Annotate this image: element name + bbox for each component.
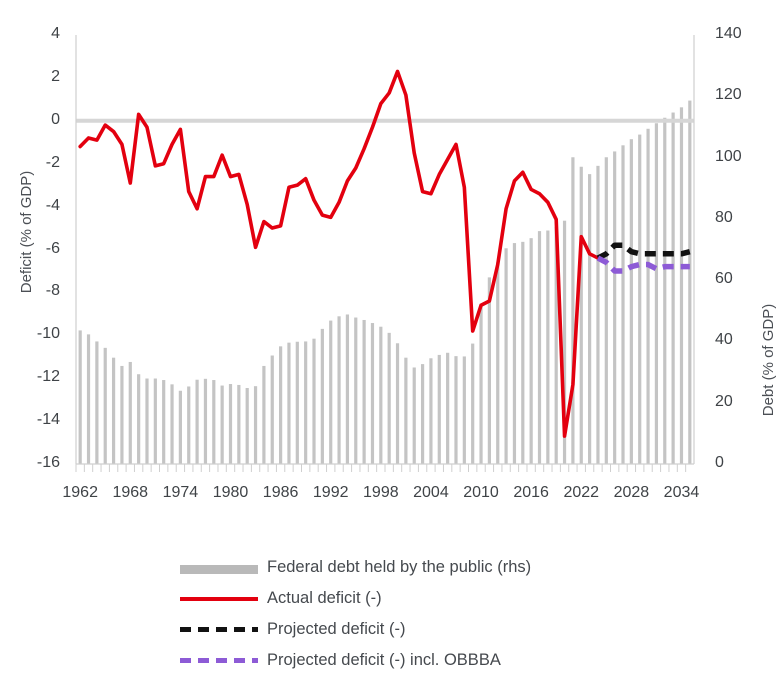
- debt-bar: [638, 135, 641, 464]
- debt-bar: [129, 362, 132, 464]
- legend-key-mark: [180, 627, 258, 632]
- debt-bar: [262, 366, 265, 464]
- debt-bar: [104, 348, 107, 464]
- legend-label: Actual deficit (-): [267, 589, 382, 608]
- debt-bar: [546, 231, 549, 465]
- debt-bar: [580, 167, 583, 464]
- debt-bar: [237, 385, 240, 464]
- debt-bar: [413, 367, 416, 464]
- debt-bar: [371, 323, 374, 464]
- debt-bar: [596, 166, 599, 464]
- projected-deficit-line: [598, 245, 690, 258]
- legend-item-1[interactable]: Actual deficit (-): [180, 583, 700, 614]
- legend-item-2[interactable]: Projected deficit (-): [180, 614, 700, 645]
- legend-item-0[interactable]: Federal debt held by the public (rhs): [180, 552, 700, 583]
- projected-deficit-obbba-line: [598, 258, 690, 271]
- debt-bar: [538, 231, 541, 464]
- debt-bar: [588, 174, 591, 464]
- debt-bar: [195, 380, 198, 464]
- legend-label: Federal debt held by the public (rhs): [267, 558, 531, 577]
- debt-bar: [287, 343, 290, 464]
- x-tick-marks: [76, 464, 686, 472]
- debt-bar: [354, 318, 357, 464]
- debt-bar: [212, 380, 215, 464]
- debt-bar: [479, 304, 482, 464]
- debt-bar: [296, 342, 299, 464]
- debt-bar: [630, 139, 633, 464]
- legend-key-mark: [180, 565, 258, 574]
- debt-bar: [571, 157, 574, 464]
- debt-bar: [421, 364, 424, 464]
- debt-bar: [154, 379, 157, 464]
- debt-bar: [621, 145, 624, 464]
- legend-item-3[interactable]: Projected deficit (-) incl. OBBBA: [180, 645, 700, 676]
- debt-bar: [346, 314, 349, 464]
- debt-bar: [613, 151, 616, 464]
- debt-bar: [304, 341, 307, 464]
- chart-container: Deficit (% of GDP) Debt (% of GDP) 420-2…: [0, 0, 780, 685]
- debt-bar: [446, 353, 449, 464]
- debt-bar: [279, 346, 282, 464]
- debt-bar: [404, 358, 407, 464]
- debt-bar: [471, 344, 474, 464]
- debt-bar: [162, 380, 165, 464]
- debt-bar: [655, 123, 658, 464]
- debt-bar: [388, 333, 391, 464]
- debt-bar: [145, 379, 148, 464]
- debt-bar: [463, 356, 466, 464]
- debt-bar: [513, 243, 516, 464]
- debt-bar: [187, 386, 190, 464]
- debt-bar: [246, 388, 249, 464]
- debt-bar: [605, 157, 608, 464]
- debt-bar: [454, 356, 457, 464]
- debt-bar: [120, 366, 123, 464]
- legend-swatch-icon: [180, 561, 258, 575]
- legend-swatch-icon: [180, 654, 258, 668]
- debt-bar: [337, 316, 340, 464]
- legend-key-mark: [180, 658, 258, 663]
- debt-bars: [79, 101, 692, 464]
- debt-bar: [530, 238, 533, 464]
- debt-bar: [229, 384, 232, 464]
- debt-bar: [271, 356, 274, 464]
- debt-bar: [363, 320, 366, 464]
- debt-bar: [329, 321, 332, 464]
- debt-bar: [95, 341, 98, 464]
- debt-bar: [112, 358, 115, 464]
- legend-key-mark: [180, 597, 258, 601]
- debt-bar: [504, 248, 507, 464]
- debt-bar: [312, 339, 315, 464]
- debt-bar: [137, 374, 140, 464]
- debt-bar: [680, 107, 683, 464]
- debt-bar: [221, 386, 224, 464]
- debt-bar: [646, 129, 649, 464]
- legend-label: Projected deficit (-) incl. OBBBA: [267, 651, 501, 670]
- legend-swatch-icon: [180, 592, 258, 606]
- debt-bar: [179, 391, 182, 464]
- legend-label: Projected deficit (-): [267, 620, 405, 639]
- debt-bar: [688, 101, 691, 464]
- debt-bar: [170, 384, 173, 464]
- debt-bar: [521, 242, 524, 464]
- debt-bar: [379, 327, 382, 464]
- debt-bar: [79, 330, 82, 464]
- debt-bar: [496, 262, 499, 464]
- debt-bar: [438, 355, 441, 464]
- debt-bar: [87, 334, 90, 464]
- debt-bar: [396, 343, 399, 464]
- chart-legend: Federal debt held by the public (rhs)Act…: [180, 552, 700, 676]
- debt-bar: [429, 358, 432, 464]
- legend-swatch-icon: [180, 623, 258, 637]
- debt-bar: [488, 277, 491, 464]
- debt-bar: [672, 113, 675, 464]
- debt-bar: [321, 329, 324, 464]
- debt-bar: [204, 379, 207, 464]
- debt-bar: [254, 386, 257, 464]
- debt-bar: [663, 118, 666, 464]
